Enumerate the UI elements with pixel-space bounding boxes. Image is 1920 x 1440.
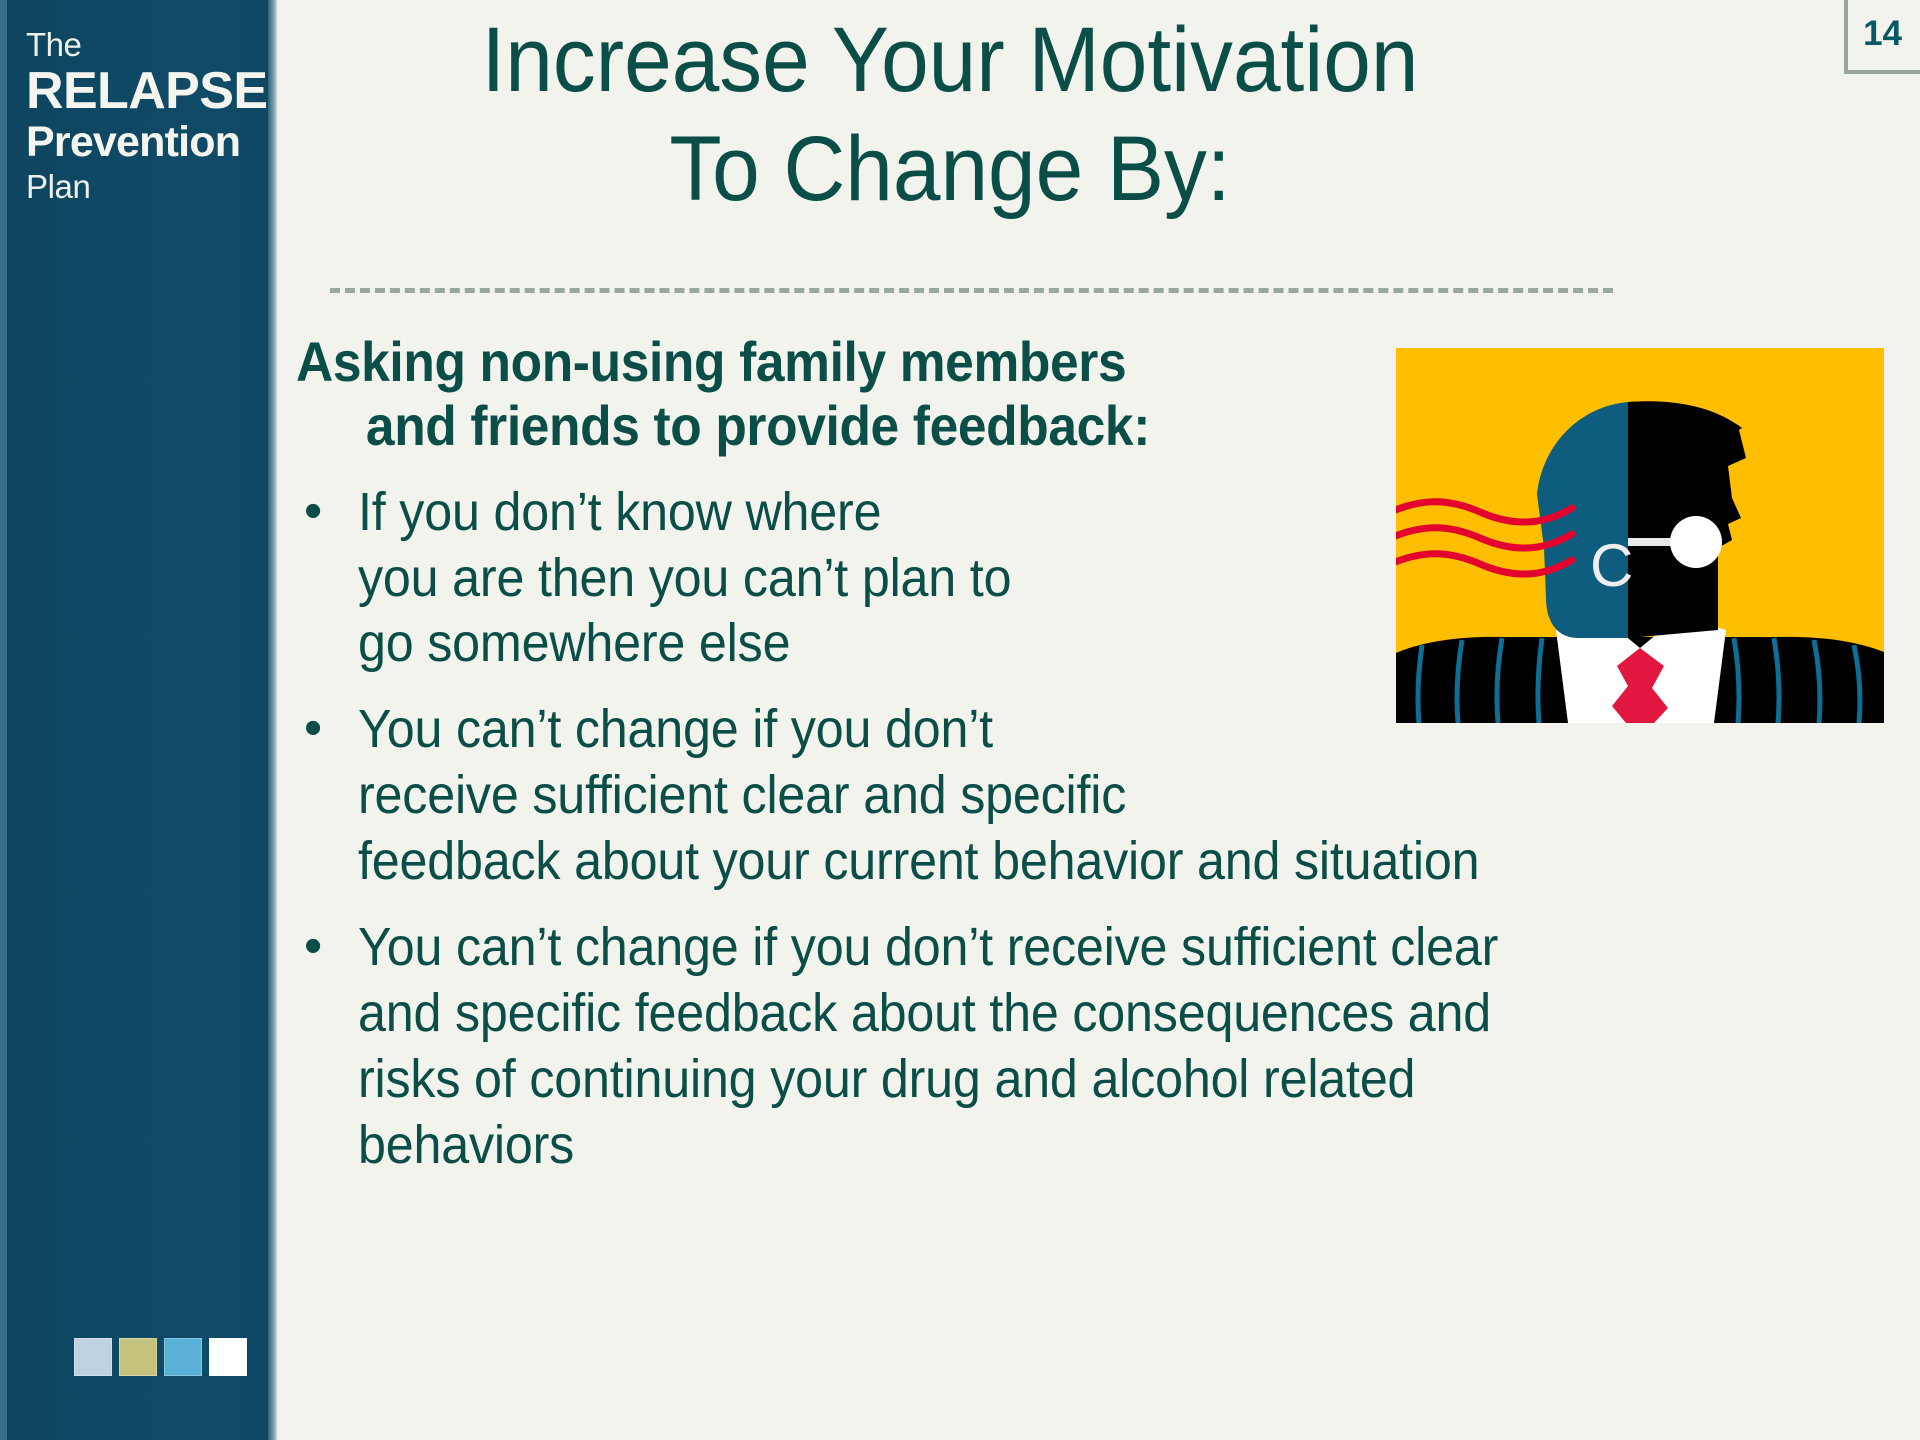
logo-line-prevention: Prevention (26, 120, 266, 165)
page-title-line-2: To Change By: (346, 115, 1555, 224)
ear-c-glyph: C (1590, 532, 1633, 599)
bullet-text: You can’t change if you don’t receive su… (358, 915, 1751, 1179)
illustration-svg: C (1396, 348, 1884, 723)
page-title-line-1: Increase Your Motivation (346, 6, 1555, 115)
brand-logo: The RELAPSE Prevention Plan (26, 28, 266, 205)
logo-line-plan: Plan (26, 169, 266, 205)
list-item: • You can’t change if you don’t receive … (296, 915, 1856, 1179)
page-number-box: 14 (1844, 0, 1920, 74)
color-swatch-strip (74, 1338, 247, 1376)
logo-line-the: The (26, 28, 266, 63)
lead-heading-line-2: and friends to provide feedback: (296, 394, 1262, 458)
page-title: Increase Your Motivation To Change By: (346, 6, 1555, 225)
bullet-dot-icon: • (296, 697, 358, 760)
page-number: 14 (1863, 14, 1902, 54)
bullet-line: You can’t change if you don’t receive su… (358, 915, 1751, 981)
swatch-olive (119, 1338, 157, 1376)
swatch-light-blue (74, 1338, 112, 1376)
bullet-text: You can’t change if you don’t receive su… (358, 697, 1751, 895)
list-item: • You can’t change if you don’t receive … (296, 697, 1856, 895)
bullet-line: behaviors (358, 1113, 1751, 1179)
man-profile-listening-illustration: C (1396, 348, 1884, 723)
sidebar: The RELAPSE Prevention Plan (0, 0, 277, 1440)
title-divider (330, 288, 1613, 293)
lead-heading-line-1: Asking non-using family members (296, 330, 1126, 393)
bullet-line: and specific feedback about the conseque… (358, 981, 1751, 1047)
lead-heading: Asking non-using family members and frie… (296, 330, 1262, 458)
swatch-white (209, 1338, 247, 1376)
swatch-blue (164, 1338, 202, 1376)
bullet-line: feedback about your current behavior and… (358, 829, 1751, 895)
bullet-dot-icon: • (296, 480, 358, 543)
logo-line-relapse: RELAPSE (26, 65, 266, 118)
sidebar-right-stripe (268, 0, 277, 1440)
slide: The RELAPSE Prevention Plan 14 Increase … (0, 0, 1920, 1440)
bullet-line: risks of continuing your drug and alcoho… (358, 1047, 1751, 1113)
sidebar-left-stripe (0, 0, 7, 1440)
eye-ball (1670, 516, 1722, 568)
bullet-line: receive sufficient clear and specific (358, 763, 1751, 829)
bullet-dot-icon: • (296, 915, 358, 978)
